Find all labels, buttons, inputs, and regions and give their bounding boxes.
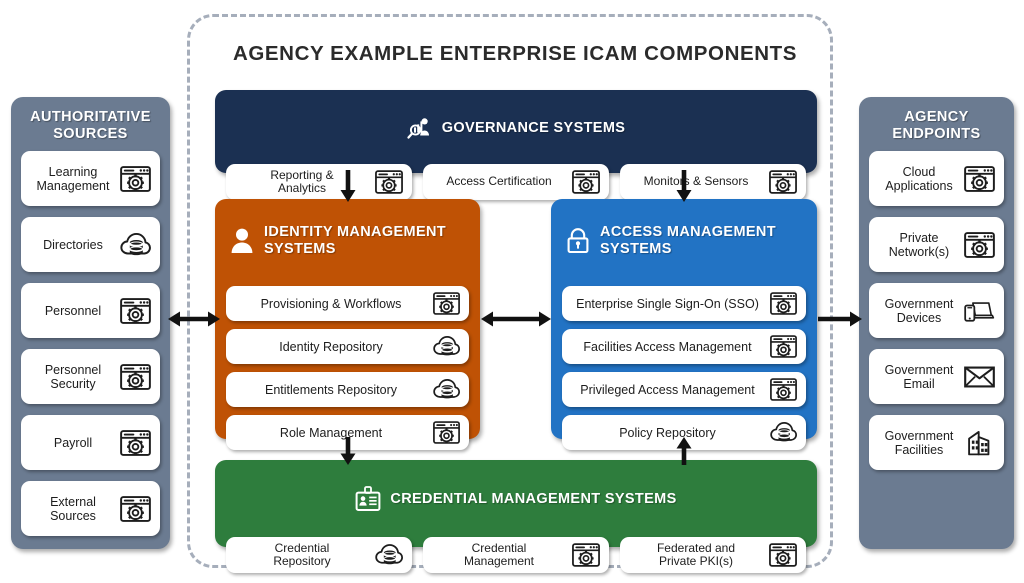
list-item-label: Access Certification xyxy=(432,175,566,189)
list-item-label: Identity Repository xyxy=(235,340,427,354)
list-item[interactable]: Cloud Applications xyxy=(869,151,1004,206)
cloud-database-icon xyxy=(120,232,151,258)
list-item-label: Provisioning & Workflows xyxy=(235,297,427,311)
credential-management-title: CREDENTIAL MANAGEMENT SYSTEMS xyxy=(390,491,676,508)
list-item-label: Federated and Private PKI(s) xyxy=(629,542,763,569)
browser-gear-icon xyxy=(964,232,995,258)
list-item-label: Government Email xyxy=(878,363,960,391)
credential-management-list: Credential RepositoryCredential Manageme… xyxy=(215,530,817,573)
list-item[interactable]: Enterprise Single Sign-On (SSO) xyxy=(562,286,806,321)
list-item[interactable]: Reporting & Analytics xyxy=(226,164,412,200)
browser-gear-icon xyxy=(120,364,151,390)
agency-endpoints-list: Cloud ApplicationsPrivate Network(s)Gove… xyxy=(859,151,1014,470)
arrow-access-to-endpoints xyxy=(818,306,862,332)
agency-endpoints-title: AGENCY ENDPOINTS xyxy=(859,97,1014,151)
list-item-label: Privileged Access Management xyxy=(571,383,764,397)
credential-management-panel: CREDENTIAL MANAGEMENT SYSTEMS Credential… xyxy=(215,460,817,547)
access-management-list: Enterprise Single Sign-On (SSO)Facilitie… xyxy=(551,280,817,450)
agency-endpoints-column: AGENCY ENDPOINTS Cloud ApplicationsPriva… xyxy=(859,97,1014,549)
browser-gear-icon xyxy=(769,543,797,567)
governance-systems-list: Reporting & AnalyticsAccess Certificatio… xyxy=(215,157,817,200)
arrow-credential-to-access xyxy=(671,437,697,465)
browser-gear-icon xyxy=(770,292,797,315)
list-item[interactable]: Government Facilities xyxy=(869,415,1004,470)
list-item[interactable]: Identity Repository xyxy=(226,329,469,364)
list-item[interactable]: Government Devices xyxy=(869,283,1004,338)
identity-management-title: IDENTITY MANAGEMENT SYSTEMS xyxy=(264,224,446,258)
access-management-title: ACCESS MANAGEMENT SYSTEMS xyxy=(600,224,776,258)
list-item[interactable]: Personnel Security xyxy=(21,349,160,404)
authoritative-sources-column: AUTHORITATIVE SOURCES Learning Managemen… xyxy=(11,97,170,549)
governance-systems-panel: GOVERNANCE SYSTEMS Reporting & Analytics… xyxy=(215,90,817,173)
list-item-label: Role Management xyxy=(235,426,427,440)
list-item-label: Enterprise Single Sign-On (SSO) xyxy=(571,297,764,311)
list-item-label: Facilities Access Management xyxy=(571,340,764,354)
browser-gear-icon xyxy=(770,378,797,401)
browser-gear-icon xyxy=(120,496,151,522)
list-item-label: Personnel xyxy=(30,304,116,318)
list-item[interactable]: Privileged Access Management xyxy=(562,372,806,407)
browser-gear-icon xyxy=(433,421,460,444)
page-title: AGENCY EXAMPLE ENTERPRISE ICAM COMPONENT… xyxy=(205,42,825,66)
browser-gear-icon xyxy=(375,170,403,194)
list-item[interactable]: Government Email xyxy=(869,349,1004,404)
list-item[interactable]: Credential Repository xyxy=(226,537,412,573)
list-item-label: Learning Management xyxy=(30,165,116,193)
envelope-icon xyxy=(964,364,995,390)
arrow-identity-to-access xyxy=(481,306,551,332)
cloud-database-icon xyxy=(375,543,403,567)
list-item-label: Government Facilities xyxy=(878,429,960,457)
list-item-label: Credential Repository xyxy=(235,542,369,569)
list-item-label: Cloud Applications xyxy=(878,165,960,193)
arrow-identity-to-credential xyxy=(335,437,361,465)
list-item[interactable]: Personnel xyxy=(21,283,160,338)
access-management-header: ACCESS MANAGEMENT SYSTEMS xyxy=(551,199,817,271)
cloud-database-icon xyxy=(770,421,797,444)
list-item[interactable]: Facilities Access Management xyxy=(562,329,806,364)
arrow-sources-to-identity xyxy=(168,306,220,332)
devices-icon xyxy=(964,298,995,324)
identity-management-panel: IDENTITY MANAGEMENT SYSTEMS Provisioning… xyxy=(215,199,480,439)
list-item-label: Payroll xyxy=(30,436,116,450)
building-icon xyxy=(964,430,995,456)
list-item-label: Directories xyxy=(30,238,116,252)
list-item[interactable]: Provisioning & Workflows xyxy=(226,286,469,321)
list-item-label: Policy Repository xyxy=(571,426,764,440)
credential-management-header: CREDENTIAL MANAGEMENT SYSTEMS xyxy=(215,460,817,530)
cloud-database-icon xyxy=(433,335,460,358)
list-item[interactable]: Entitlements Repository xyxy=(226,372,469,407)
diagram-canvas: AGENCY EXAMPLE ENTERPRISE ICAM COMPONENT… xyxy=(0,0,1024,583)
browser-gear-icon xyxy=(769,170,797,194)
authoritative-sources-title: AUTHORITATIVE SOURCES xyxy=(11,97,170,151)
browser-gear-icon xyxy=(572,170,600,194)
list-item[interactable]: Payroll xyxy=(21,415,160,470)
lock-icon xyxy=(565,210,591,271)
analytics-magnifier-icon xyxy=(407,99,433,157)
browser-gear-icon xyxy=(964,166,995,192)
list-item-label: Entitlements Repository xyxy=(235,383,427,397)
person-icon xyxy=(229,210,255,271)
list-item-label: Government Devices xyxy=(878,297,960,325)
browser-gear-icon xyxy=(120,298,151,324)
governance-systems-header: GOVERNANCE SYSTEMS xyxy=(215,90,817,157)
browser-gear-icon xyxy=(770,335,797,358)
authoritative-sources-list: Learning ManagementDirectoriesPersonnelP… xyxy=(11,151,170,536)
browser-gear-icon xyxy=(433,292,460,315)
arrow-governance-to-identity xyxy=(335,170,361,202)
identity-management-header: IDENTITY MANAGEMENT SYSTEMS xyxy=(215,199,480,271)
list-item-label: Private Network(s) xyxy=(878,231,960,259)
list-item-label: External Sources xyxy=(30,495,116,523)
list-item[interactable]: Federated and Private PKI(s) xyxy=(620,537,806,573)
browser-gear-icon xyxy=(120,430,151,456)
list-item[interactable]: External Sources xyxy=(21,481,160,536)
identity-management-list: Provisioning & WorkflowsIdentity Reposit… xyxy=(215,280,480,450)
list-item[interactable]: Private Network(s) xyxy=(869,217,1004,272)
governance-systems-title: GOVERNANCE SYSTEMS xyxy=(442,120,626,137)
arrow-governance-to-access xyxy=(671,170,697,202)
id-badge-icon xyxy=(355,469,381,530)
browser-gear-icon xyxy=(572,543,600,567)
list-item[interactable]: Access Certification xyxy=(423,164,609,200)
list-item-label: Credential Management xyxy=(432,542,566,569)
list-item-label: Personnel Security xyxy=(30,363,116,391)
access-management-panel: ACCESS MANAGEMENT SYSTEMS Enterprise Sin… xyxy=(551,199,817,439)
cloud-database-icon xyxy=(433,378,460,401)
list-item[interactable]: Monitors & Sensors xyxy=(620,164,806,200)
list-item[interactable]: Directories xyxy=(21,217,160,272)
list-item[interactable]: Credential Management xyxy=(423,537,609,573)
list-item[interactable]: Learning Management xyxy=(21,151,160,206)
browser-gear-icon xyxy=(120,166,151,192)
